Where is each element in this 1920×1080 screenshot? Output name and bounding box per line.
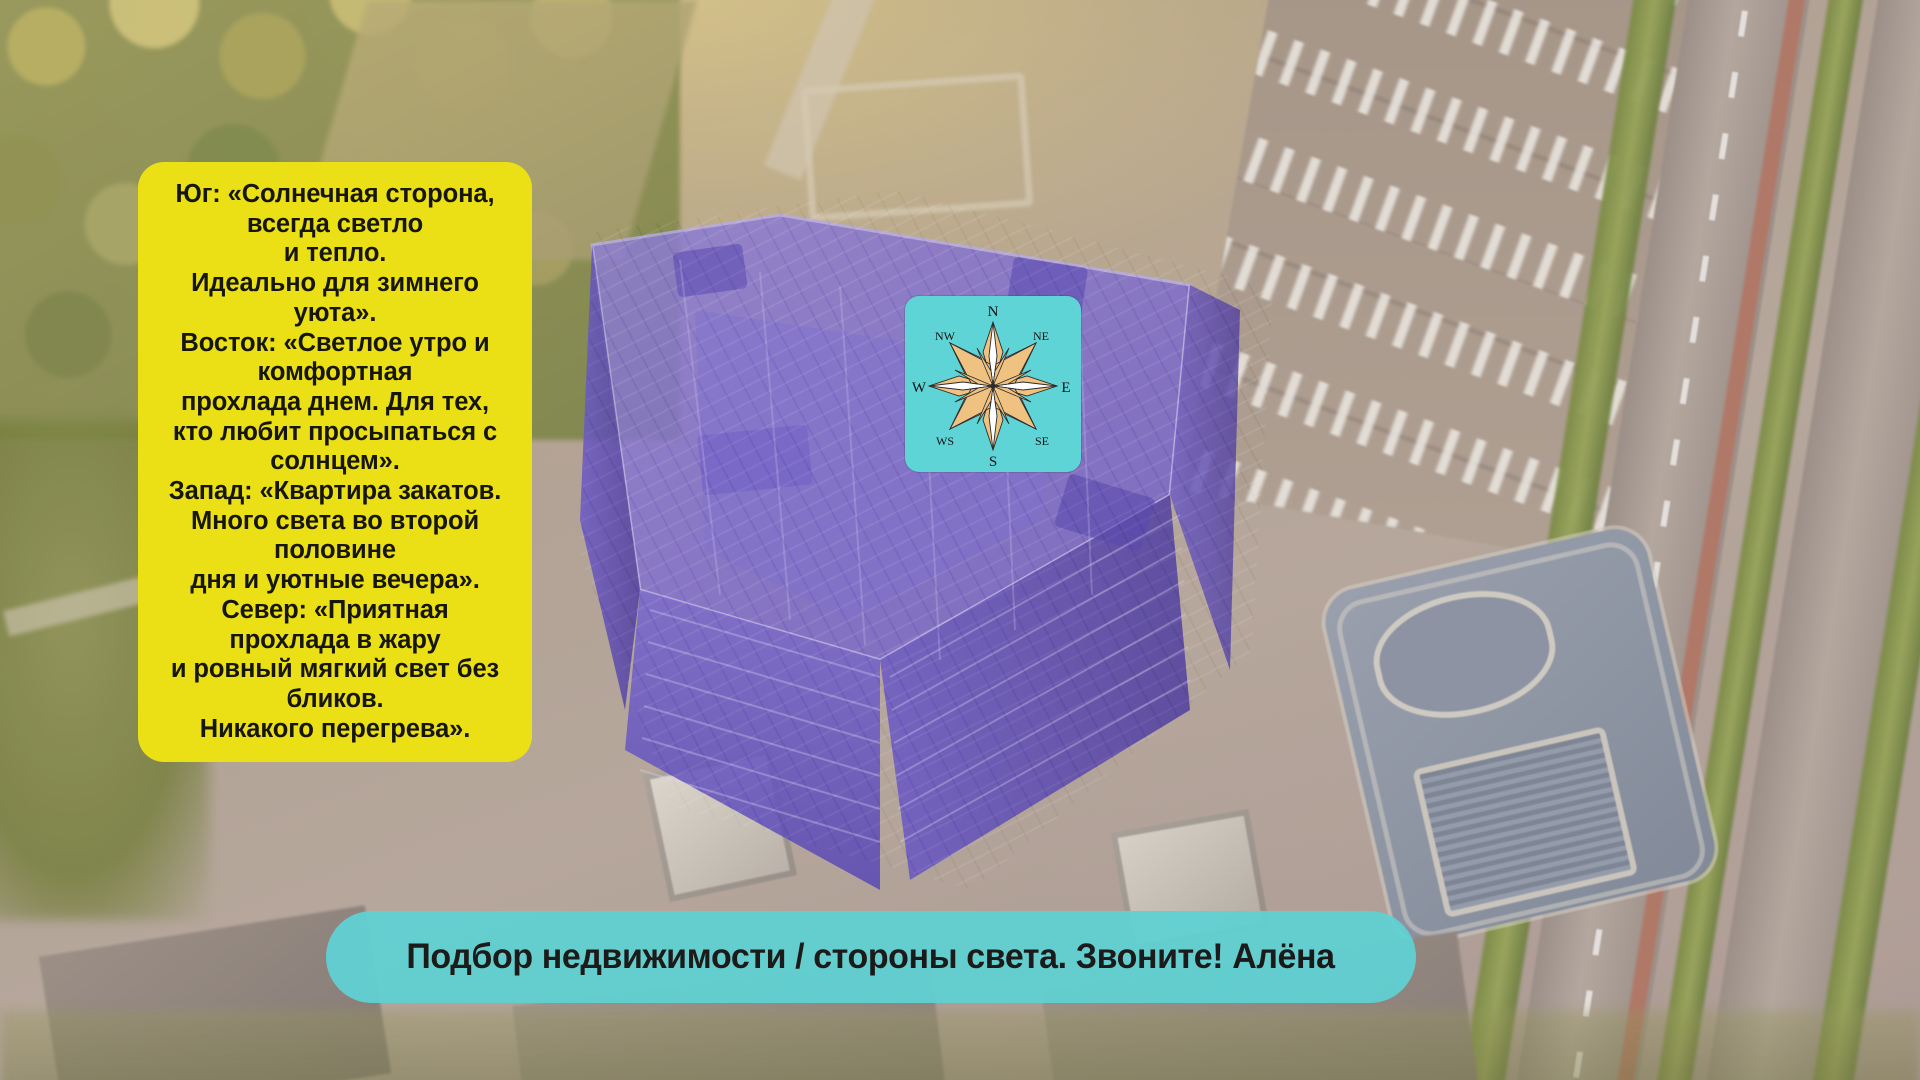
promo-canvas: N NE E SE S WS W NW Юг: «Солнечная сторо… bbox=[0, 0, 1920, 1080]
bottom-green-strip bbox=[0, 1010, 1920, 1080]
compass-label-se: SE bbox=[1035, 434, 1049, 448]
info-line: прохлада в жару bbox=[152, 626, 518, 656]
info-line: всегда светло bbox=[152, 210, 518, 240]
info-line: бликов. bbox=[152, 685, 518, 715]
info-line: и тепло. bbox=[152, 239, 518, 269]
info-line: и ровный мягкий свет без bbox=[152, 655, 518, 685]
info-line: солнцем». bbox=[152, 447, 518, 477]
cta-banner-text: Подбор недвижимости / стороны света. Зво… bbox=[407, 937, 1335, 977]
orientation-info-panel: Юг: «Солнечная сторона, всегда светло и … bbox=[138, 162, 532, 762]
info-line: прохлада днем. Для тех, bbox=[152, 388, 518, 418]
info-line: Юг: «Солнечная сторона, bbox=[152, 180, 518, 210]
compass-label-s: S bbox=[989, 454, 997, 470]
info-line: Никакого перегрева». bbox=[152, 715, 518, 745]
compass-label-ne: NE bbox=[1033, 329, 1049, 343]
info-line: комфортная bbox=[152, 358, 518, 388]
compass-label-e: E bbox=[1061, 380, 1070, 396]
info-line: Запад: «Квартира закатов. bbox=[152, 477, 518, 507]
compass-rose-card: N NE E SE S WS W NW bbox=[905, 296, 1081, 472]
info-line: Север: «Приятная bbox=[152, 596, 518, 626]
compass-label-w: W bbox=[912, 380, 927, 396]
info-line: Восток: «Светлое утро и bbox=[152, 329, 518, 359]
info-line: кто любит просыпаться с bbox=[152, 418, 518, 448]
info-line: Много света во второй bbox=[152, 507, 518, 537]
compass-label-ws: WS bbox=[936, 434, 954, 448]
highlighted-building-overlay bbox=[580, 190, 1280, 890]
info-line: дня и уютные вечера». bbox=[152, 566, 518, 596]
info-line: уюта». bbox=[152, 299, 518, 329]
cta-banner[interactable]: Подбор недвижимости / стороны света. Зво… bbox=[326, 911, 1416, 1003]
compass-label-nw: NW bbox=[935, 329, 956, 343]
compass-label-n: N bbox=[988, 304, 999, 320]
info-line: Идеально для зимнего bbox=[152, 269, 518, 299]
info-line: половине bbox=[152, 536, 518, 566]
